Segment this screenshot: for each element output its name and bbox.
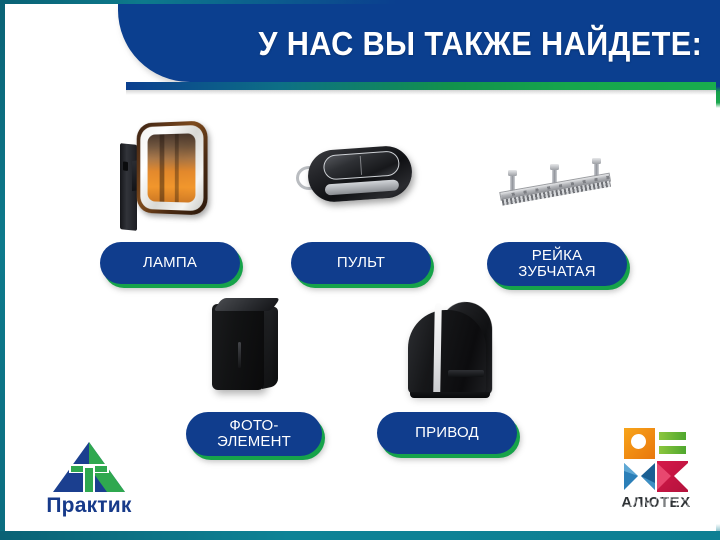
photocell-lens [238, 342, 241, 368]
product-label-photocell[interactable]: ФОТО- ЭЛЕМЕНТ [186, 412, 322, 456]
product-label-lamp[interactable]: ЛАМПА [100, 242, 240, 284]
product-label-text: ПУЛЬТ [337, 255, 385, 271]
remote-body [306, 144, 413, 203]
header-banner-wrapper: У НАС ВЫ ТАКЖЕ НАЙДЕТЕ: [118, 4, 716, 84]
lamp-amber-lens [148, 133, 196, 202]
remote-button-panel [323, 150, 401, 180]
remote-chrome-strip [325, 179, 400, 195]
praktik-logo: Практик [28, 440, 150, 528]
alutech-tile-blue [624, 461, 655, 492]
product-label-text: РЕЙКА [532, 248, 583, 264]
lamp-chrome-ring [140, 125, 203, 211]
header-banner: У НАС ВЫ ТАКЖЕ НАЙДЕТЕ: [118, 4, 716, 82]
alutech-logo: АЛЮТЕХ [614, 428, 698, 520]
alutech-mark-icon [624, 428, 688, 492]
product-label-text: ФОТО- [229, 418, 278, 434]
slide-canvas: У НАС ВЫ ТАКЖЕ НАЙДЕТЕ: [0, 0, 720, 540]
header-accent-rule [126, 82, 716, 90]
product-label-rack[interactable]: РЕЙКА ЗУБЧАТАЯ [487, 242, 627, 286]
gear-rack-image [496, 162, 626, 212]
photocell-side-face [262, 306, 278, 389]
alutech-tile-crimson [657, 461, 688, 492]
praktik-logo-text: Практик [28, 494, 150, 518]
avito-bubble-icon [598, 502, 612, 516]
alutech-logo-text: АЛЮТЕХ [614, 494, 698, 511]
frame-border-left [0, 0, 5, 540]
alutech-tile-green [657, 428, 688, 459]
drive-left-shell [408, 310, 486, 394]
photocell-top-face [213, 298, 280, 311]
photocell-front-face [212, 304, 264, 390]
product-label-text: ЗУБЧАТАЯ [518, 264, 596, 280]
photocell-image [206, 298, 296, 403]
praktik-mark-icon [28, 440, 150, 496]
product-label-text: ЭЛЕМЕНТ [217, 434, 291, 450]
drive-vent-slot [448, 370, 484, 377]
drive-base [410, 392, 490, 398]
product-label-text: ЛАМПА [143, 255, 197, 271]
gate-drive-image [404, 298, 514, 408]
remote-control-image [296, 142, 426, 212]
page-title: У НАС ВЫ ТАКЖЕ НАЙДЕТЕ: [258, 27, 702, 60]
product-label-drive[interactable]: ПРИВОД [377, 412, 517, 454]
product-label-remote[interactable]: ПУЛЬТ [291, 242, 431, 284]
lamp-housing [137, 120, 208, 215]
header-rule-shadow [126, 90, 716, 95]
alutech-x-blue-icon [624, 461, 655, 492]
frame-border-bottom [0, 531, 720, 540]
signal-lamp-image [112, 118, 232, 238]
alutech-tile-orange [624, 428, 655, 459]
product-label-text: ПРИВОД [415, 425, 479, 441]
alutech-x-crimson-icon [657, 461, 688, 492]
